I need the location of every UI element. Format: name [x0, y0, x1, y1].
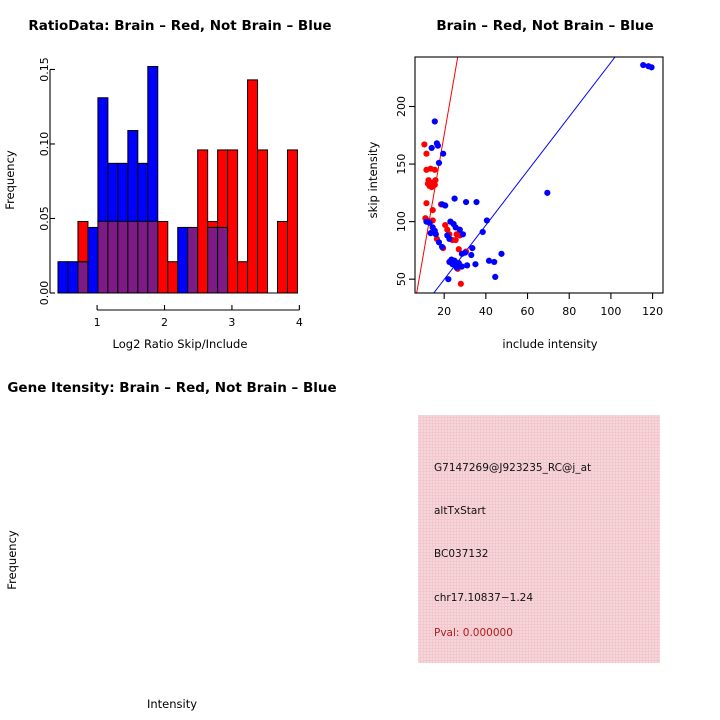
scatter-point [462, 250, 468, 256]
scatter-point [484, 217, 490, 223]
y-axis: 50100150200 [395, 96, 415, 286]
not-brain-fit-line [434, 57, 615, 293]
y-tick-label: 0.05 [38, 206, 51, 231]
histogram-bars [58, 66, 297, 293]
panel-gene-info: G7147269@J923235_RC@j_at altTxStart BC03… [360, 360, 720, 720]
scatter-point [436, 160, 442, 166]
scatter-point [473, 199, 479, 205]
gene-histogram-xlabel: Intensity [147, 697, 197, 711]
y-tick-label: 0.15 [38, 57, 51, 82]
x-tick-label: 80 [562, 305, 576, 318]
gene-histogram-ylabel: Frequency [5, 530, 19, 590]
scatter-point [453, 237, 459, 243]
y-axis: 0.000.050.100.15 [38, 57, 55, 305]
scatter-point [432, 167, 438, 173]
y-tick-label: 0.00 [38, 281, 51, 306]
ratio-histogram-ylabel: Frequency [3, 150, 17, 210]
y-tick-label: 0.10 [38, 132, 51, 157]
x-tick-label: 20 [437, 305, 451, 318]
gene-histogram-svg: Gene Itensity: Brain – Red, Not Brain – … [0, 360, 360, 720]
scatter-point [454, 265, 460, 271]
scatter-point [486, 258, 492, 264]
scatter-point [640, 62, 646, 68]
scatter-point [430, 207, 436, 213]
panel-scatter-plot: Brain – Red, Not Brain – Blue 2040608010… [360, 0, 720, 360]
scatter-point [423, 151, 429, 157]
x-tick-label: 4 [296, 316, 303, 329]
y-tick-label: 100 [395, 211, 408, 232]
location-text: chr17.10837−1.24 [434, 592, 533, 604]
scatter-point [469, 245, 475, 251]
scatter-point [423, 200, 429, 206]
scatter-point [544, 190, 550, 196]
scatter-point [648, 64, 654, 70]
scatter-point [432, 118, 438, 124]
scatter-point [492, 274, 498, 280]
scatter-point [451, 196, 457, 202]
scatter-point [446, 236, 452, 242]
ratio-histogram-xlabel: Log2 Ratio Skip/Include [113, 337, 248, 351]
scatter-point [480, 229, 486, 235]
ratio-histogram-title: RatioData: Brain – Red, Not Brain – Blue [28, 18, 331, 34]
x-tick-label: 40 [479, 305, 493, 318]
scatter-plot-title: Brain – Red, Not Brain – Blue [436, 18, 653, 34]
scatter-point [472, 261, 478, 267]
scatter-point [435, 143, 441, 149]
panel-gene-intensity-histogram: Gene Itensity: Brain – Red, Not Brain – … [0, 360, 360, 720]
scatter-point [460, 231, 466, 237]
x-tick-label: 120 [642, 305, 663, 318]
x-axis: 1234 [94, 305, 303, 329]
scatter-plot-area: 2040608010012050100150200 [395, 57, 663, 318]
scatter-point [442, 202, 448, 208]
scatter-point [439, 244, 445, 250]
y-tick-label: 200 [395, 96, 408, 117]
probe-id-text: G7147269@J923235_RC@j_at [434, 462, 591, 474]
scatter-point [463, 199, 469, 205]
scatter-point [429, 145, 435, 151]
x-tick-label: 3 [228, 316, 235, 329]
accession-text: BC037132 [434, 548, 488, 560]
x-axis: 20406080100120 [437, 293, 663, 318]
scatter-point [421, 141, 427, 147]
scatter-plot-svg: Brain – Red, Not Brain – Blue 2040608010… [360, 0, 720, 360]
scatter-point [468, 252, 474, 258]
scatter-xlabel: include intensity [502, 337, 597, 351]
x-tick-label: 100 [600, 305, 621, 318]
scatter-data-layer [417, 57, 655, 293]
ratio-histogram-svg: RatioData: Brain – Red, Not Brain – Blue… [0, 0, 360, 360]
scatter-point [433, 231, 439, 237]
gene-histogram-title: Gene Itensity: Brain – Red, Not Brain – … [7, 380, 336, 396]
scatter-point [425, 181, 431, 187]
pvalue-text: Pval: 0.000000 [434, 627, 513, 639]
scatter-point [440, 151, 446, 157]
x-tick-label: 1 [94, 316, 101, 329]
scatter-point [447, 219, 453, 225]
y-tick-label: 150 [395, 154, 408, 175]
scatter-point [445, 276, 451, 282]
scatter-point [491, 259, 497, 265]
y-tick-label: 50 [395, 272, 408, 286]
scatter-ylabel: skip intensity [366, 141, 380, 218]
panel-ratio-histogram: RatioData: Brain – Red, Not Brain – Blue… [0, 0, 360, 360]
scatter-point [464, 262, 470, 268]
ratio-histogram-plot-area: 0.000.050.100.151234 [38, 57, 303, 329]
scatter-point [498, 251, 504, 257]
scatter-point [458, 281, 464, 287]
gene-info-box: G7147269@J923235_RC@j_at altTxStart BC03… [418, 415, 660, 663]
x-tick-label: 2 [161, 316, 168, 329]
event-type-text: altTxStart [434, 505, 486, 517]
scatter-point [428, 230, 434, 236]
x-tick-label: 60 [521, 305, 535, 318]
scatter-point [432, 177, 438, 183]
